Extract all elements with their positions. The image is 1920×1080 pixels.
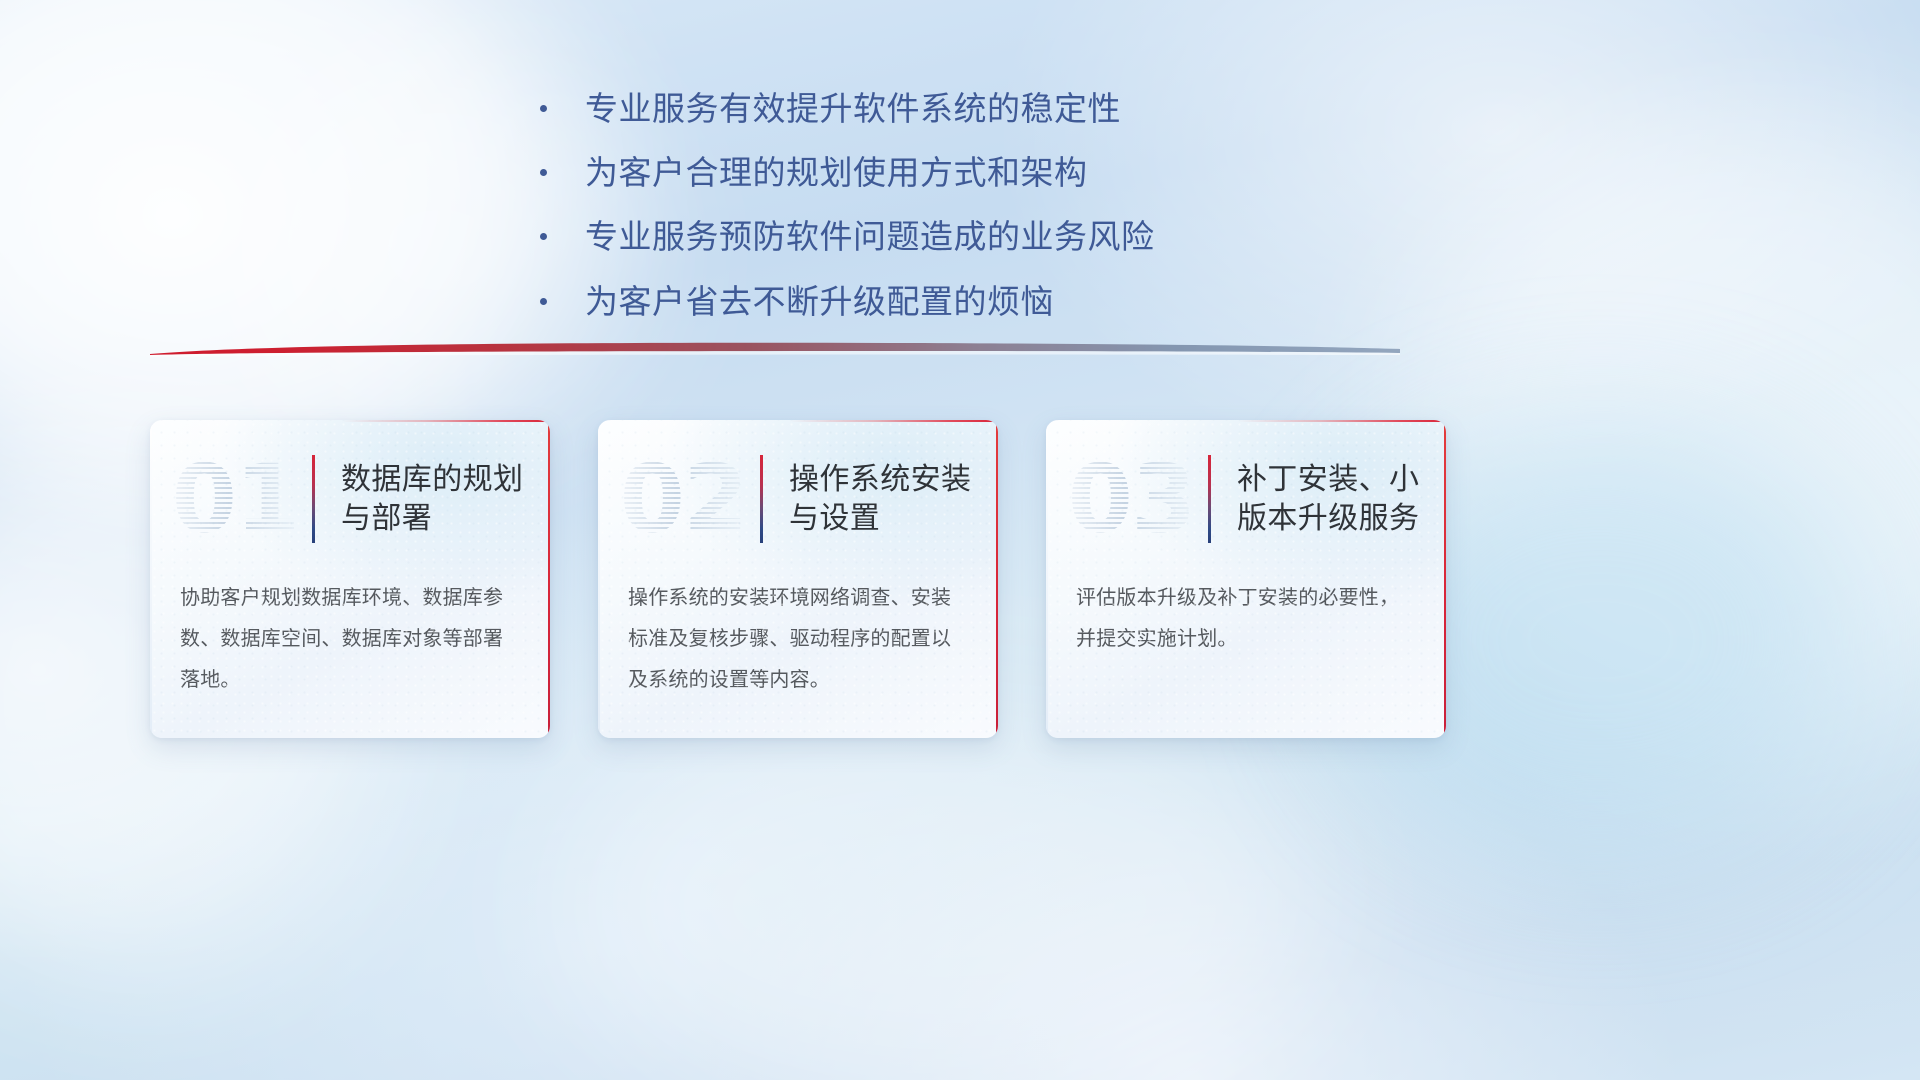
section-divider [150,340,1400,366]
card-title-line2: 版本升级服务 [1237,502,1419,535]
card-number-badge: 03 [1068,447,1194,551]
card-divider-bar-icon [760,455,763,543]
card-description: 操作系统的安装环境网络调查、安装标准及复核步骤、驱动程序的配置以及系统的设置等内… [598,578,998,701]
card-title: 补丁安装、小 版本升级服务 [1237,460,1446,538]
service-card[interactable]: 02 操作系统安装 与设置 操作系统的安装环境网络调查、安装标准及复核步骤、驱动… [598,420,998,738]
list-item: 专业服务预防软件问题造成的业务风险 [540,216,1420,258]
card-number-text: 02 [620,447,746,551]
bullet-dot-icon [540,233,547,240]
card-title: 数据库的规划 与部署 [341,460,550,538]
bullet-dot-icon [540,169,547,176]
bullet-text: 专业服务有效提升软件系统的稳定性 [585,88,1121,130]
service-card[interactable]: 01 数据库的规划 与部署 协助客户规划数据库环境、数据库参数、数据库空间、数据… [150,420,550,738]
card-header: 01 数据库的规划 与部署 [150,420,550,578]
card-number-badge: 01 [172,447,298,551]
card-title: 操作系统安装 与设置 [789,460,998,538]
list-item: 为客户省去不断升级配置的烦恼 [540,281,1420,323]
card-number-badge: 02 [620,447,746,551]
card-description: 评估版本升级及补丁安装的必要性，并提交实施计划。 [1046,578,1446,660]
card-title-line1: 操作系统安装 [789,463,971,496]
bullet-text: 为客户合理的规划使用方式和架构 [585,152,1088,194]
slide-canvas: 专业服务有效提升软件系统的稳定性 为客户合理的规划使用方式和架构 专业服务预防软… [0,0,1920,1080]
bullet-text: 为客户省去不断升级配置的烦恼 [585,281,1054,323]
card-divider-bar-icon [1208,455,1211,543]
list-item: 为客户合理的规划使用方式和架构 [540,152,1420,194]
card-title-line1: 数据库的规划 [341,463,523,496]
card-number-text: 03 [1068,447,1194,551]
tapered-rule-divider-icon [150,340,1400,366]
card-title-line1: 补丁安装、小 [1237,463,1419,496]
card-number-text: 01 [172,447,298,551]
service-card[interactable]: 03 补丁安装、小 版本升级服务 评估版本升级及补丁安装的必要性，并提交实施计划… [1046,420,1446,738]
bullet-dot-icon [540,105,547,112]
bullet-text: 专业服务预防软件问题造成的业务风险 [585,216,1155,258]
card-header: 03 补丁安装、小 版本升级服务 [1046,420,1446,578]
card-description: 协助客户规划数据库环境、数据库参数、数据库空间、数据库对象等部署落地。 [150,578,550,701]
service-card-list: 01 数据库的规划 与部署 协助客户规划数据库环境、数据库参数、数据库空间、数据… [150,420,1770,750]
card-header: 02 操作系统安装 与设置 [598,420,998,578]
card-title-line2: 与设置 [789,502,880,535]
list-item: 专业服务有效提升软件系统的稳定性 [540,88,1420,130]
card-divider-bar-icon [312,455,315,543]
card-title-line2: 与部署 [341,502,432,535]
benefits-bullet-list: 专业服务有效提升软件系统的稳定性 为客户合理的规划使用方式和架构 专业服务预防软… [540,88,1420,345]
bullet-dot-icon [540,298,547,305]
